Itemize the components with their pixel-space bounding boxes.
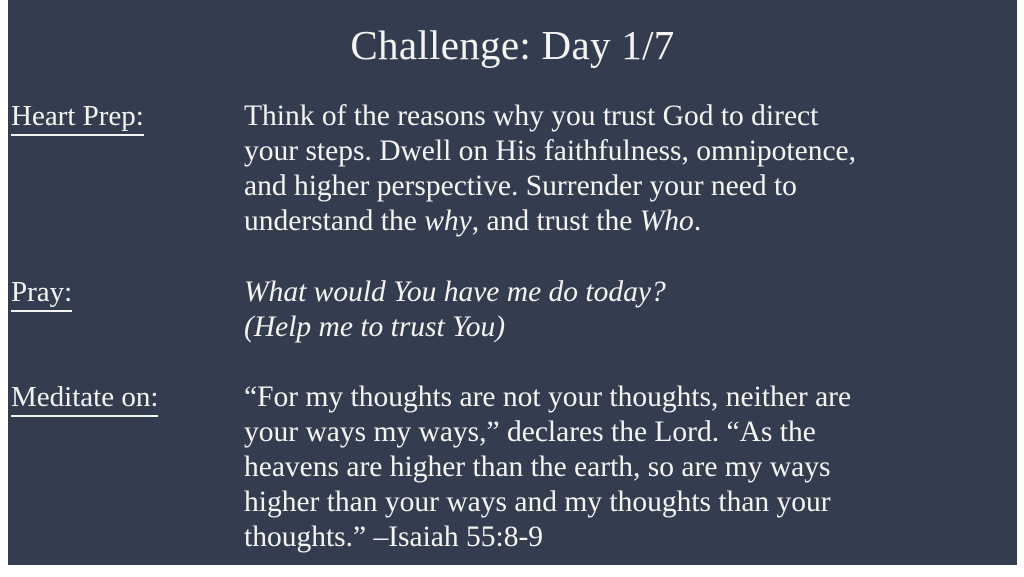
text-line: understand the why, and trust the Who.: [244, 204, 1012, 239]
page-title: Challenge: Day 1/7: [8, 22, 1017, 68]
text-run: understand the: [244, 205, 424, 237]
text-line: (Help me to trust You): [244, 310, 1012, 345]
section-label-text: Meditate on:: [11, 380, 158, 417]
text-line: and higher perspective. Surrender your n…: [244, 169, 1012, 204]
text-line: your ways my ways,” declares the Lord. “…: [244, 415, 1012, 450]
emphasis-text: Who: [640, 205, 694, 237]
text-run: heavens are higher than the earth, so ar…: [244, 451, 831, 483]
slide-canvas: Challenge: Day 1/7 Heart Prep: Think of …: [8, 0, 1017, 565]
text-run: .: [694, 205, 701, 237]
text-run: , and trust the: [472, 205, 640, 237]
text-line: thoughts.” –Isaiah 55:8-9: [244, 520, 1012, 555]
text-run: higher than your ways and my thoughts th…: [244, 486, 831, 518]
section-label-text: Pray:: [11, 275, 72, 312]
text-line: higher than your ways and my thoughts th…: [244, 485, 1012, 520]
text-run: your steps. Dwell on His faithfulness, o…: [244, 135, 856, 167]
text-run: thoughts.” –Isaiah 55:8-9: [244, 521, 543, 553]
text-line: your steps. Dwell on His faithfulness, o…: [244, 134, 1012, 169]
text-line: What would You have me do today?: [244, 275, 1012, 310]
text-run: your ways my ways,” declares the Lord. “…: [244, 416, 816, 448]
section-label-pray: Pray:: [11, 275, 72, 312]
section-body-heart-prep: Think of the reasons why you trust God t…: [244, 99, 1012, 239]
section-label-meditate-on: Meditate on:: [11, 380, 158, 417]
section-body-meditate-on: “For my thoughts are not your thoughts, …: [244, 380, 1012, 555]
emphasis-text: What would You have me do today?: [244, 276, 666, 308]
text-line: heavens are higher than the earth, so ar…: [244, 450, 1012, 485]
text-run: “For my thoughts are not your thoughts, …: [244, 381, 851, 413]
section-label-heart-prep: Heart Prep:: [11, 99, 144, 136]
page-margin-left: [0, 0, 8, 577]
text-line: “For my thoughts are not your thoughts, …: [244, 380, 1012, 415]
emphasis-text: (Help me to trust You): [244, 311, 505, 343]
text-run: Think of the reasons why you trust God t…: [244, 100, 818, 132]
section-label-text: Heart Prep:: [11, 99, 144, 136]
text-line: Think of the reasons why you trust God t…: [244, 99, 1012, 134]
page-margin-right: [1017, 0, 1024, 577]
section-body-pray: What would You have me do today?(Help me…: [244, 275, 1012, 345]
text-run: and higher perspective. Surrender your n…: [244, 170, 797, 202]
page-margin-bottom: [0, 565, 1024, 577]
emphasis-text: why: [424, 205, 472, 237]
